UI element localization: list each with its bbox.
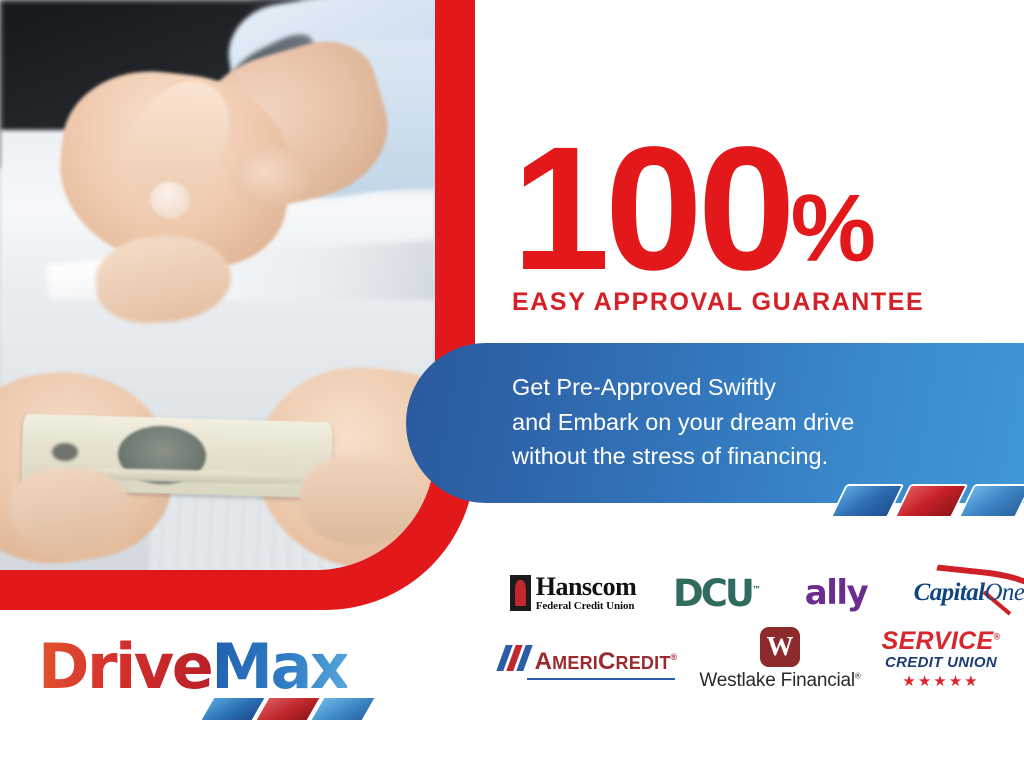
logo-capital-one: CapitalOne <box>894 579 1024 607</box>
drivemax-drive: Drive <box>38 630 211 703</box>
americredit-trademark: ® <box>671 652 678 662</box>
chevron-red-middle-icon <box>894 484 969 518</box>
photo-container <box>0 0 435 570</box>
americredit-c: C <box>598 648 616 675</box>
drivemax-chevron-accent <box>208 698 368 720</box>
offer-banner-text: Get Pre-Approved Swiftly and Embark on y… <box>512 370 982 474</box>
chevron-blue-right-icon <box>958 484 1024 518</box>
photo-bill-seal <box>52 443 78 461</box>
banner-chevron-accent <box>838 484 1024 514</box>
offer-line-1: Get Pre-Approved Swiftly <box>512 370 982 405</box>
service-stars-icon: ★★★★★ <box>902 674 979 689</box>
photo-knuckles <box>232 148 312 206</box>
service-word: SERVICE <box>882 627 994 655</box>
dcu-name: DCU <box>673 572 752 615</box>
service-credit-union-label: CREDIT UNION <box>885 654 997 673</box>
photo-cash-fingers-right <box>300 455 420 545</box>
capital-one-capital: Capital <box>914 579 985 606</box>
dcu-trademark: ™ <box>752 585 761 595</box>
drivemax-chevron-red-icon <box>257 698 320 720</box>
americredit-meri: MERI <box>552 653 598 673</box>
americredit-underline <box>527 678 676 680</box>
drivemax-max: Max <box>211 630 347 703</box>
logo-hanscom-federal-credit-union: Hanscom Federal Credit Union <box>498 574 648 612</box>
headline-number: 100 <box>512 134 791 285</box>
partner-logos: Hanscom Federal Credit Union DCU™ ally C… <box>498 566 1014 698</box>
westlake-badge-icon: W <box>760 627 800 667</box>
hanscom-tagline: Federal Credit Union <box>536 601 637 612</box>
westlake-w: W <box>767 633 794 660</box>
partner-logo-row-1: Hanscom Federal Credit Union DCU™ ally C… <box>498 566 1024 620</box>
service-trademark: ® <box>993 632 1000 642</box>
logo-ally: ally <box>786 573 886 613</box>
headline-group: 100 % <box>512 110 907 285</box>
offer-line-3: without the stress of financing. <box>512 439 982 474</box>
drivemax-logo[interactable]: DriveMax <box>38 636 378 728</box>
headline-subtitle: EASY APPROVAL GUARANTEE <box>512 288 924 317</box>
americredit-slashes-icon <box>501 645 531 671</box>
logo-westlake-financial: W Westlake Financial® <box>694 627 866 692</box>
hanscom-emblem-icon <box>510 575 531 611</box>
chevron-blue-left-icon <box>830 484 905 518</box>
drivemax-chevron-blue-right-icon <box>312 698 375 720</box>
ally-name: ally <box>805 573 867 613</box>
headline-percent-sign: % <box>791 181 874 277</box>
westlake-name: Westlake Financial <box>699 670 855 691</box>
logo-dcu: DCU™ <box>662 572 772 615</box>
handshake-money-photo <box>0 0 435 570</box>
logo-service-credit-union: SERVICE® CREDIT UNION ★★★★★ <box>876 629 1006 689</box>
photo-cash-fingers-left <box>10 468 130 546</box>
drivemax-chevron-blue-left-icon <box>202 698 265 720</box>
westlake-trademark: ® <box>855 671 861 680</box>
americredit-a: A <box>535 648 553 675</box>
offer-line-2: and Embark on your dream drive <box>512 405 982 440</box>
photo-red-frame <box>0 0 475 610</box>
logo-americredit: AMERICREDIT® <box>498 643 680 676</box>
americredit-redit: REDIT <box>616 653 671 673</box>
partner-logo-row-2: AMERICREDIT® W Westlake Financial® SERVI… <box>498 628 1006 690</box>
advertisement-banner: 100 % EASY APPROVAL GUARANTEE Get Pre-Ap… <box>0 0 1024 768</box>
capital-one-one: One <box>984 579 1024 606</box>
hanscom-name: Hanscom <box>536 574 637 600</box>
